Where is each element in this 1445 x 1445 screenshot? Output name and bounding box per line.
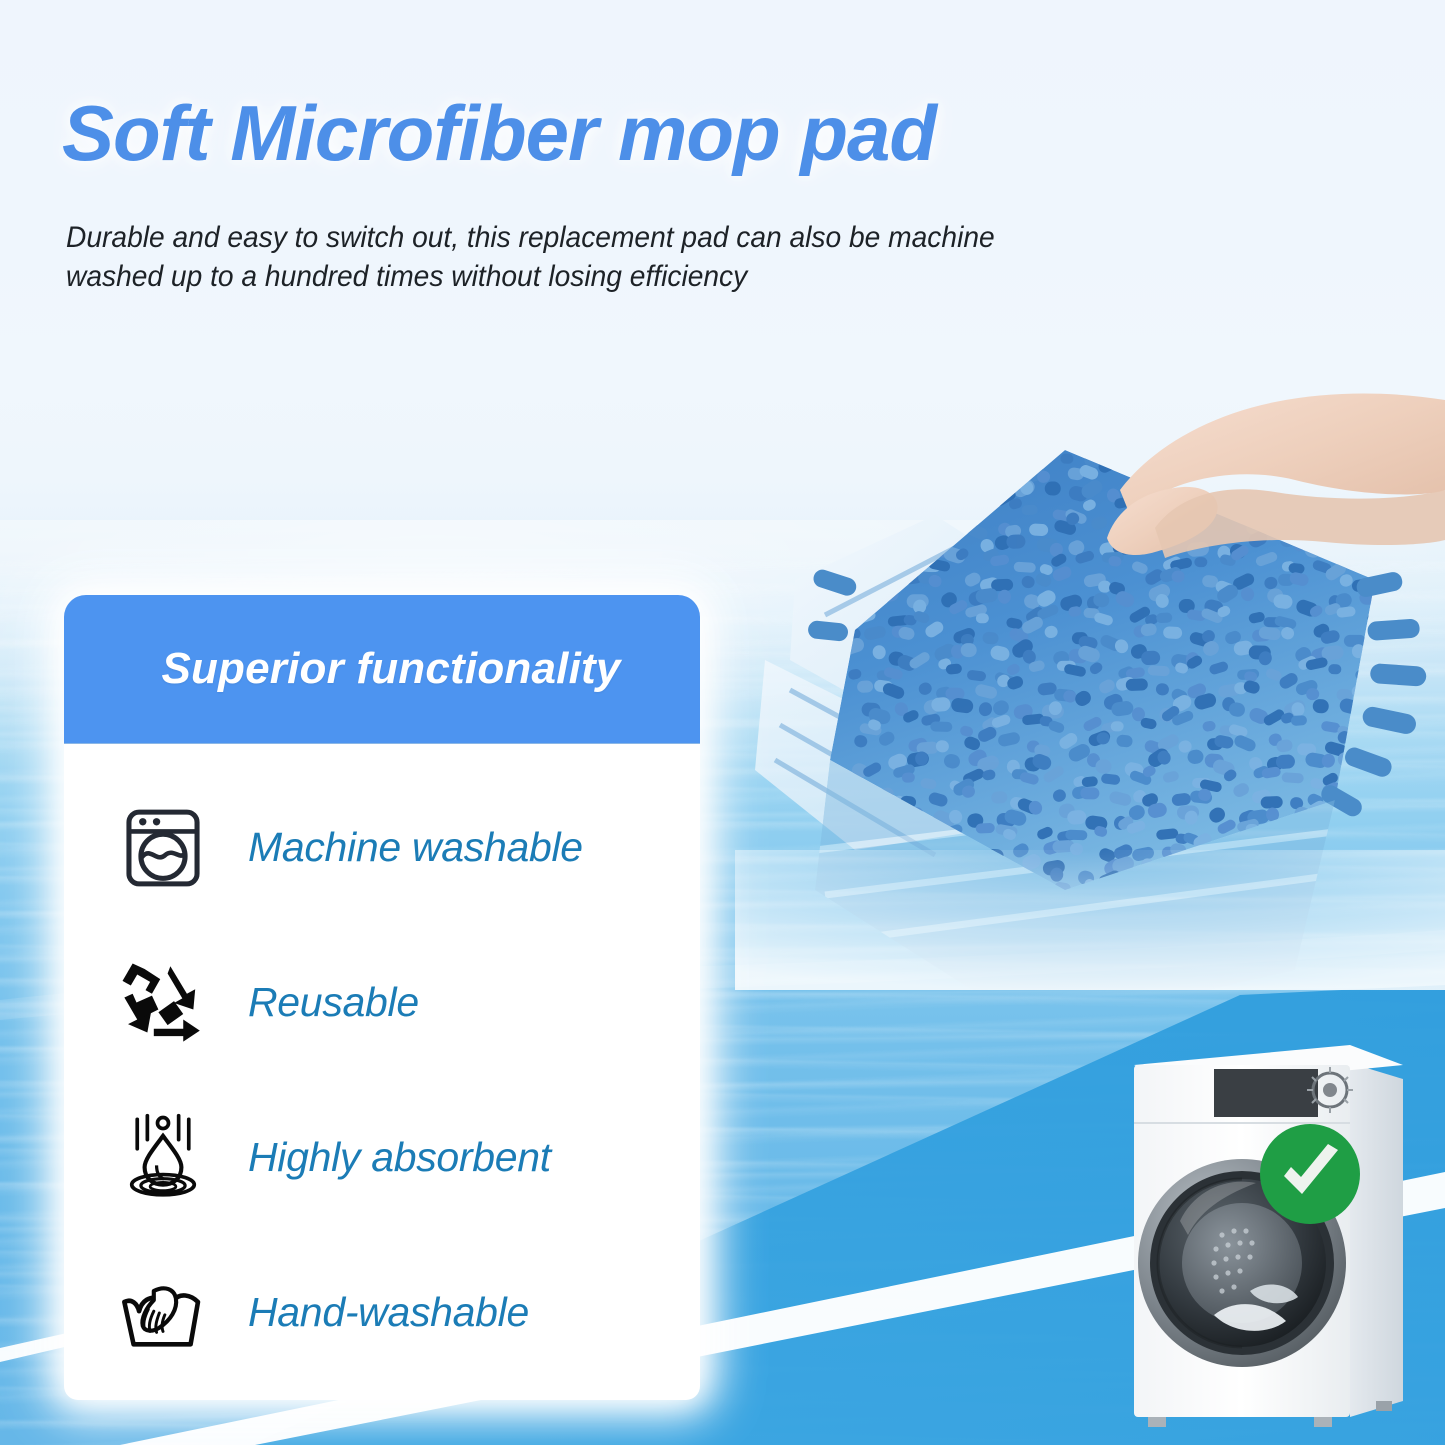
feature-card-header: Superior functionality — [64, 595, 700, 744]
washing-machine-photo — [1118, 1035, 1418, 1435]
feature-label: Reusable — [248, 979, 419, 1026]
page-subtitle: Durable and easy to switch out, this rep… — [66, 218, 1078, 296]
page-title: Soft Microfiber mop pad — [62, 88, 1262, 179]
feature-item-highly-absorbent: Highly absorbent — [64, 1080, 700, 1235]
feature-item-machine-washable: Machine washable — [64, 770, 700, 925]
washer-foot-back — [1376, 1401, 1392, 1411]
feature-list: Machine washable — [64, 744, 700, 1390]
washer-foot-right — [1314, 1417, 1332, 1427]
feature-item-reusable: Reusable — [64, 925, 700, 1080]
product-infographic: Soft Microfiber mop pad Durable and easy… — [0, 0, 1445, 1445]
washing-machine-icon — [104, 798, 222, 898]
mop-pad-product-photo — [735, 330, 1445, 990]
washer-foot-left — [1148, 1417, 1166, 1427]
feature-label: Hand-washable — [248, 1289, 529, 1336]
water-drop-absorb-icon — [104, 1108, 222, 1208]
hand-holding-pad — [1107, 394, 1445, 559]
feature-card-title: Superior functionality — [143, 644, 620, 694]
feature-item-hand-washable: Hand-washable — [64, 1235, 700, 1390]
washer-side-panel — [1350, 1063, 1403, 1417]
feature-label: Machine washable — [248, 824, 583, 871]
feature-card: Superior functionality Machine washable — [64, 595, 700, 1400]
washer-control-panel — [1214, 1069, 1318, 1117]
green-check-badge — [1258, 1122, 1362, 1226]
recycle-icon — [104, 953, 222, 1053]
feature-label: Highly absorbent — [248, 1134, 551, 1181]
hand-wash-basin-icon — [104, 1263, 222, 1363]
